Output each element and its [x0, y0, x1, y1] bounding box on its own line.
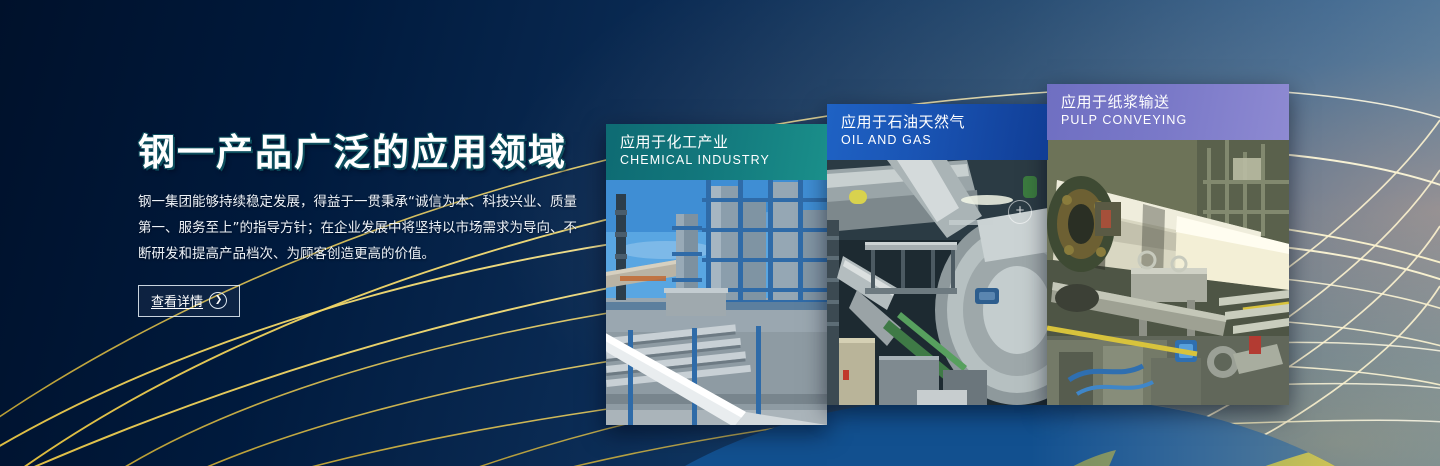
hero-banner: 钢一产品广泛的应用领域 钢一集团能够持续稳定发展，得益于一贯秉承“诚信为本、科技… — [0, 0, 1440, 466]
card-caption: 应用于化工产业 CHEMICAL INDUSTRY — [606, 124, 827, 180]
card-title-en: OIL AND GAS — [841, 132, 1048, 148]
view-details-button[interactable]: 查看详情 ❯ — [138, 285, 240, 317]
chevron-right-circle-icon: ❯ — [209, 292, 227, 309]
hero-description: 钢一集团能够持续稳定发展，得益于一贯秉承“诚信为本、科技兴业、质量第一、服务至上… — [138, 189, 578, 267]
card-title-en: PULP CONVEYING — [1061, 112, 1289, 128]
card-title-cn: 应用于石油天然气 — [841, 113, 1048, 132]
card-title-cn: 应用于化工产业 — [620, 133, 827, 152]
hero-copy: 钢一产品广泛的应用领域 钢一集团能够持续稳定发展，得益于一贯秉承“诚信为本、科技… — [138, 134, 588, 317]
zoom-in-icon[interactable]: + — [1008, 200, 1032, 224]
card-title-en: CHEMICAL INDUSTRY — [620, 152, 827, 168]
view-details-label: 查看详情 — [151, 291, 203, 310]
oil-and-gas-pipes-photo — [827, 160, 1048, 405]
card-caption: 应用于纸浆输送 PULP CONVEYING — [1047, 84, 1289, 140]
application-card-pulp-conveying[interactable]: 应用于纸浆输送 PULP CONVEYING — [1047, 84, 1289, 405]
application-card-oil-and-gas[interactable]: 应用于石油天然气 OIL AND GAS + — [827, 104, 1048, 405]
card-caption: 应用于石油天然气 OIL AND GAS — [827, 104, 1048, 160]
chemical-plant-photo — [606, 180, 827, 425]
pulp-mill-roller-photo — [1047, 140, 1289, 405]
page-title: 钢一产品广泛的应用领域 — [138, 134, 588, 173]
card-title-cn: 应用于纸浆输送 — [1061, 93, 1289, 112]
application-card-chemical-industry[interactable]: 应用于化工产业 CHEMICAL INDUSTRY — [606, 124, 827, 425]
